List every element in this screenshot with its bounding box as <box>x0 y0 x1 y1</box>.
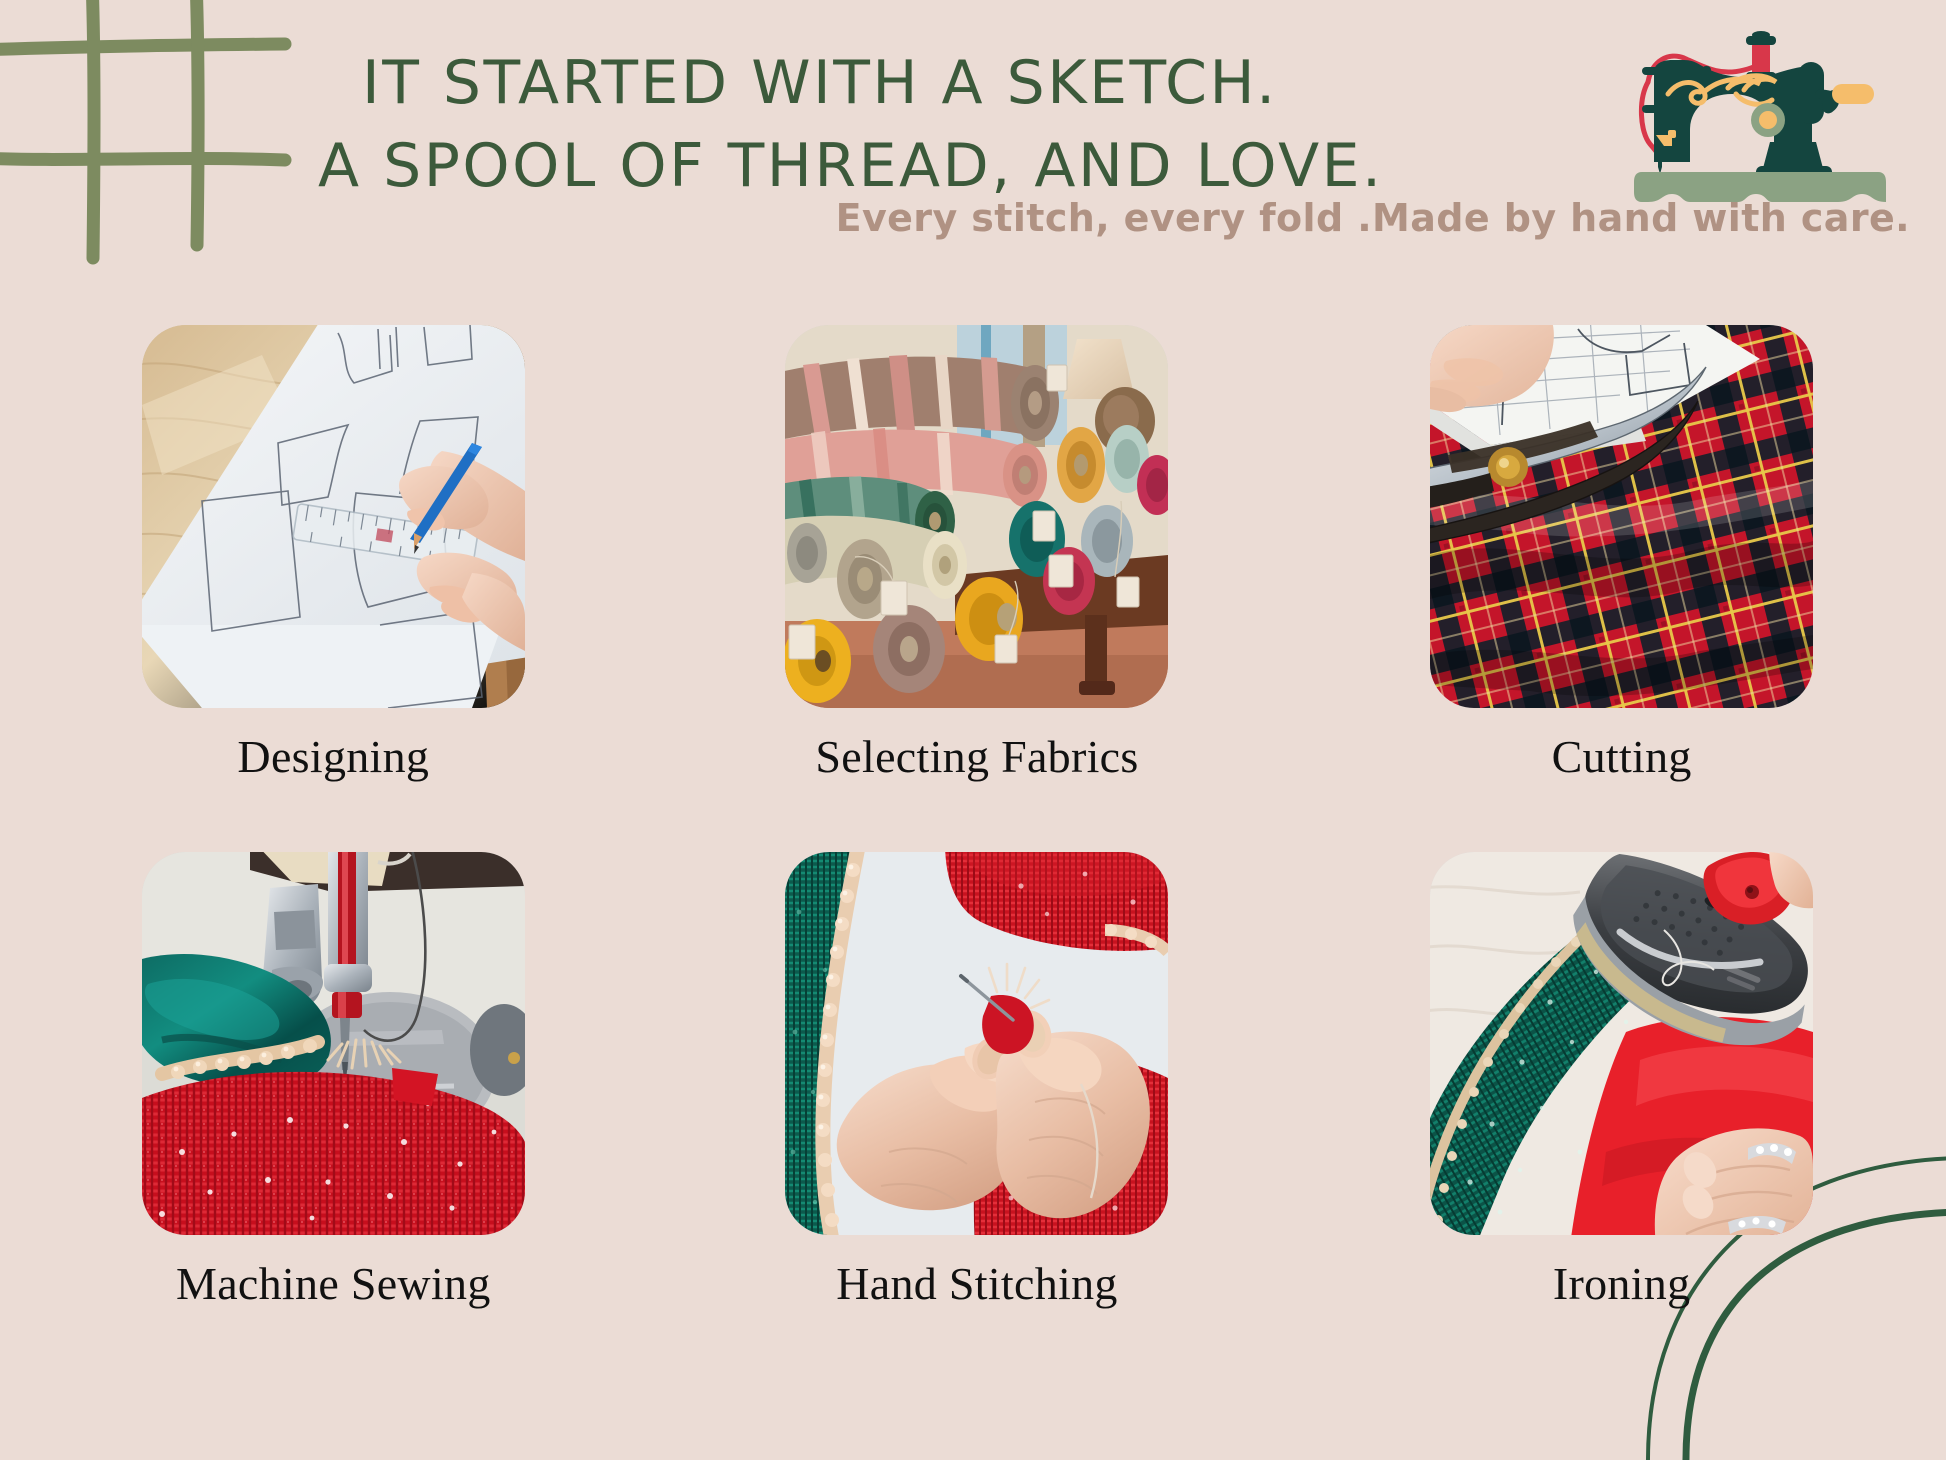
header: IT STARTED WITH A SKETCH. A SPOOL OF THR… <box>0 0 1946 300</box>
step-card-designing[interactable]: Designing <box>0 325 649 780</box>
step-image-designing <box>142 325 525 708</box>
step-card-selecting-fabrics[interactable]: Selecting Fabrics <box>649 325 1298 780</box>
step-label-hand-stitching: Hand Stitching <box>836 1261 1117 1307</box>
step-label-selecting-fabrics: Selecting Fabrics <box>815 734 1138 780</box>
step-image-hand-stitching <box>785 852 1168 1235</box>
page-title: IT STARTED WITH A SKETCH. A SPOOL OF THR… <box>300 42 1550 208</box>
step-image-ironing <box>1430 852 1813 1235</box>
step-card-ironing[interactable]: Ironing <box>1297 852 1946 1307</box>
step-card-machine-sewing[interactable]: Machine Sewing <box>0 852 649 1307</box>
step-label-cutting: Cutting <box>1552 734 1692 780</box>
step-card-hand-stitching[interactable]: Hand Stitching <box>649 852 1298 1307</box>
step-image-cutting <box>1430 325 1813 708</box>
step-label-machine-sewing: Machine Sewing <box>176 1261 491 1307</box>
title-line-1: IT STARTED WITH A SKETCH. <box>300 42 1550 125</box>
step-card-cutting[interactable]: Cutting <box>1297 325 1946 780</box>
step-image-selecting-fabrics <box>785 325 1168 708</box>
step-label-designing: Designing <box>237 734 429 780</box>
step-label-ironing: Ironing <box>1553 1261 1691 1307</box>
process-steps-grid: Designing <box>0 325 1946 1307</box>
sewing-machine-icon <box>1624 22 1896 207</box>
step-image-machine-sewing <box>142 852 525 1235</box>
